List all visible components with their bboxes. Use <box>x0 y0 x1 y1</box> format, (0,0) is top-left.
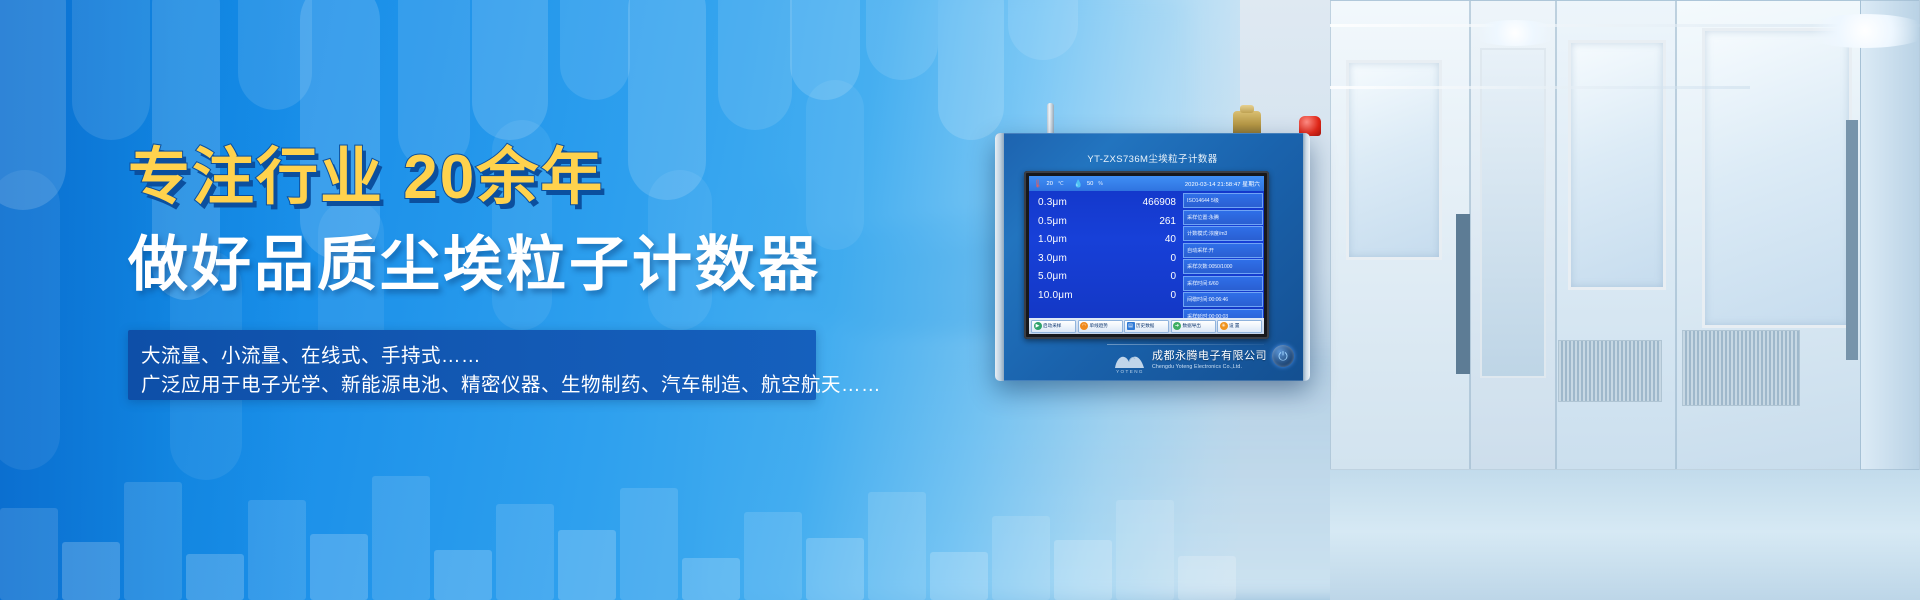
thermometer-icon: 🌡 <box>1033 180 1043 188</box>
humidity-unit: % <box>1098 181 1102 187</box>
info-row: 采样次数:0050/1000 <box>1183 259 1263 274</box>
info-row: 采样时间:6/60 <box>1183 276 1263 291</box>
particle-readings-list: 0.3μm 466908 0.5μm 261 1.0μm 40 3.0μm 0 <box>1029 191 1181 317</box>
reading-row: 10.0μm 0 <box>1038 290 1176 309</box>
particle-count-value: 0 <box>1170 253 1176 264</box>
particle-size-label: 5.0μm <box>1038 271 1067 282</box>
device-divider <box>1107 344 1264 345</box>
lcd-status-bar: 🌡 20 ℃ 💧 50 % 2020-03-14 21:58:47 星期六 <box>1029 176 1264 191</box>
reading-row: 0.5μm 261 <box>1038 216 1176 235</box>
info-row: 自动采样:开 <box>1183 243 1263 258</box>
trend-chart-button[interactable]: ◠ 单线趋势 <box>1078 320 1123 333</box>
particle-count-value: 0 <box>1170 290 1176 301</box>
info-row: ISO14644 5级 <box>1183 193 1263 208</box>
power-icon: ⏻ <box>1278 349 1288 364</box>
reading-row: 0.3μm 466908 <box>1038 197 1176 216</box>
brand-wordmark: YOTENG <box>1113 369 1147 374</box>
device-right-edge <box>1303 133 1310 381</box>
brand-plate: YOTENG 成都永腾电子有限公司 Chengdu Yoteng Electro… <box>1113 350 1267 370</box>
device-left-edge <box>995 133 1004 381</box>
device-model-title: YT-ZXS736M尘埃粒子计数器 <box>995 151 1310 165</box>
power-button[interactable]: ⏻ <box>1272 345 1294 367</box>
start-sampling-label: 启动采样 <box>1043 323 1061 329</box>
humidity-value: 50 <box>1087 181 1093 187</box>
temperature-unit: ℃ <box>1058 181 1064 187</box>
reading-row: 3.0μm 0 <box>1038 253 1176 272</box>
bottom-equalizer-pattern <box>0 450 1240 600</box>
particle-size-label: 1.0μm <box>1038 234 1067 245</box>
promo-banner: 专注行业 20余年 做好品质尘埃粒子计数器 大流量、小流量、在线式、手持式…… … <box>0 0 1920 600</box>
particle-size-label: 3.0μm <box>1038 253 1067 264</box>
settings-info-list: ISO14644 5级 采样位置:永腾 计数模式:浓度/m3 自动采样:开 采样… <box>1183 193 1263 334</box>
subtitle-line-2: 广泛应用于电子光学、新能源电池、精密仪器、生物制药、汽车制造、航空航天…… <box>141 368 881 397</box>
chart-line-icon: ◠ <box>1080 322 1088 330</box>
company-name-en: Chengdu Yoteng Electronics Co.,Ltd. <box>1152 364 1267 371</box>
headline-secondary: 做好品质尘埃粒子计数器 <box>128 216 821 303</box>
reading-row: 1.0μm 40 <box>1038 234 1176 253</box>
info-row: 采样位置:永腾 <box>1183 210 1263 225</box>
yoteng-arch-logo: YOTENG <box>1113 350 1147 370</box>
particle-count-value: 0 <box>1170 271 1176 282</box>
export-data-label: 数据导出 <box>1183 323 1201 329</box>
particle-count-value: 466908 <box>1143 197 1176 208</box>
history-data-button[interactable]: ▤ 历史数据 <box>1124 320 1169 333</box>
settings-label: 设 置 <box>1229 323 1239 329</box>
company-name-cn: 成都永腾电子有限公司 <box>1152 350 1267 364</box>
subtitle-line-1: 大流量、小流量、在线式、手持式…… <box>141 339 481 368</box>
lcd-screen[interactable]: 🌡 20 ℃ 💧 50 % 2020-03-14 21:58:47 星期六 0.… <box>1029 176 1264 334</box>
particle-count-value: 261 <box>1159 216 1176 227</box>
particle-counter-device: YT-ZXS736M尘埃粒子计数器 🌡 20 ℃ 💧 50 % 2020-03-… <box>995 133 1310 381</box>
particle-size-label: 10.0μm <box>1038 290 1073 301</box>
corridor-scene <box>1330 0 1920 600</box>
particle-size-label: 0.3μm <box>1038 197 1067 208</box>
document-icon: ▤ <box>1127 322 1135 330</box>
start-sampling-button[interactable]: ▶ 启动采样 <box>1031 320 1076 333</box>
particle-count-value: 40 <box>1165 234 1176 245</box>
temperature-value: 20 <box>1047 181 1053 187</box>
lcd-bezel: 🌡 20 ℃ 💧 50 % 2020-03-14 21:58:47 星期六 0.… <box>1024 171 1269 339</box>
particle-size-label: 0.5μm <box>1038 216 1067 227</box>
trend-chart-label: 单线趋势 <box>1090 323 1108 329</box>
reading-row: 5.0μm 0 <box>1038 271 1176 290</box>
headline-primary: 专注行业 20余年 <box>128 126 604 216</box>
datetime-display: 2020-03-14 21:58:47 星期六 <box>1185 179 1260 188</box>
lcd-button-bar: ▶ 启动采样 ◠ 单线趋势 ▤ 历史数据 ➜ 数据导出 <box>1029 318 1264 334</box>
info-row: 间歇时间:00:06:46 <box>1183 292 1263 307</box>
export-data-button[interactable]: ➜ 数据导出 <box>1171 320 1216 333</box>
subtitle-band: 大流量、小流量、在线式、手持式…… 广泛应用于电子光学、新能源电池、精密仪器、生… <box>128 330 816 400</box>
export-icon: ➜ <box>1173 322 1181 330</box>
settings-button[interactable]: ✳ 设 置 <box>1217 320 1262 333</box>
gear-icon: ✳ <box>1220 322 1228 330</box>
play-circle-icon: ▶ <box>1034 322 1042 330</box>
water-drop-icon: 💧 <box>1074 180 1083 188</box>
info-row: 计数模式:浓度/m3 <box>1183 226 1263 241</box>
device-antenna <box>1047 103 1054 135</box>
device-inlet-nozzle <box>1233 111 1261 135</box>
history-data-label: 历史数据 <box>1136 323 1154 329</box>
